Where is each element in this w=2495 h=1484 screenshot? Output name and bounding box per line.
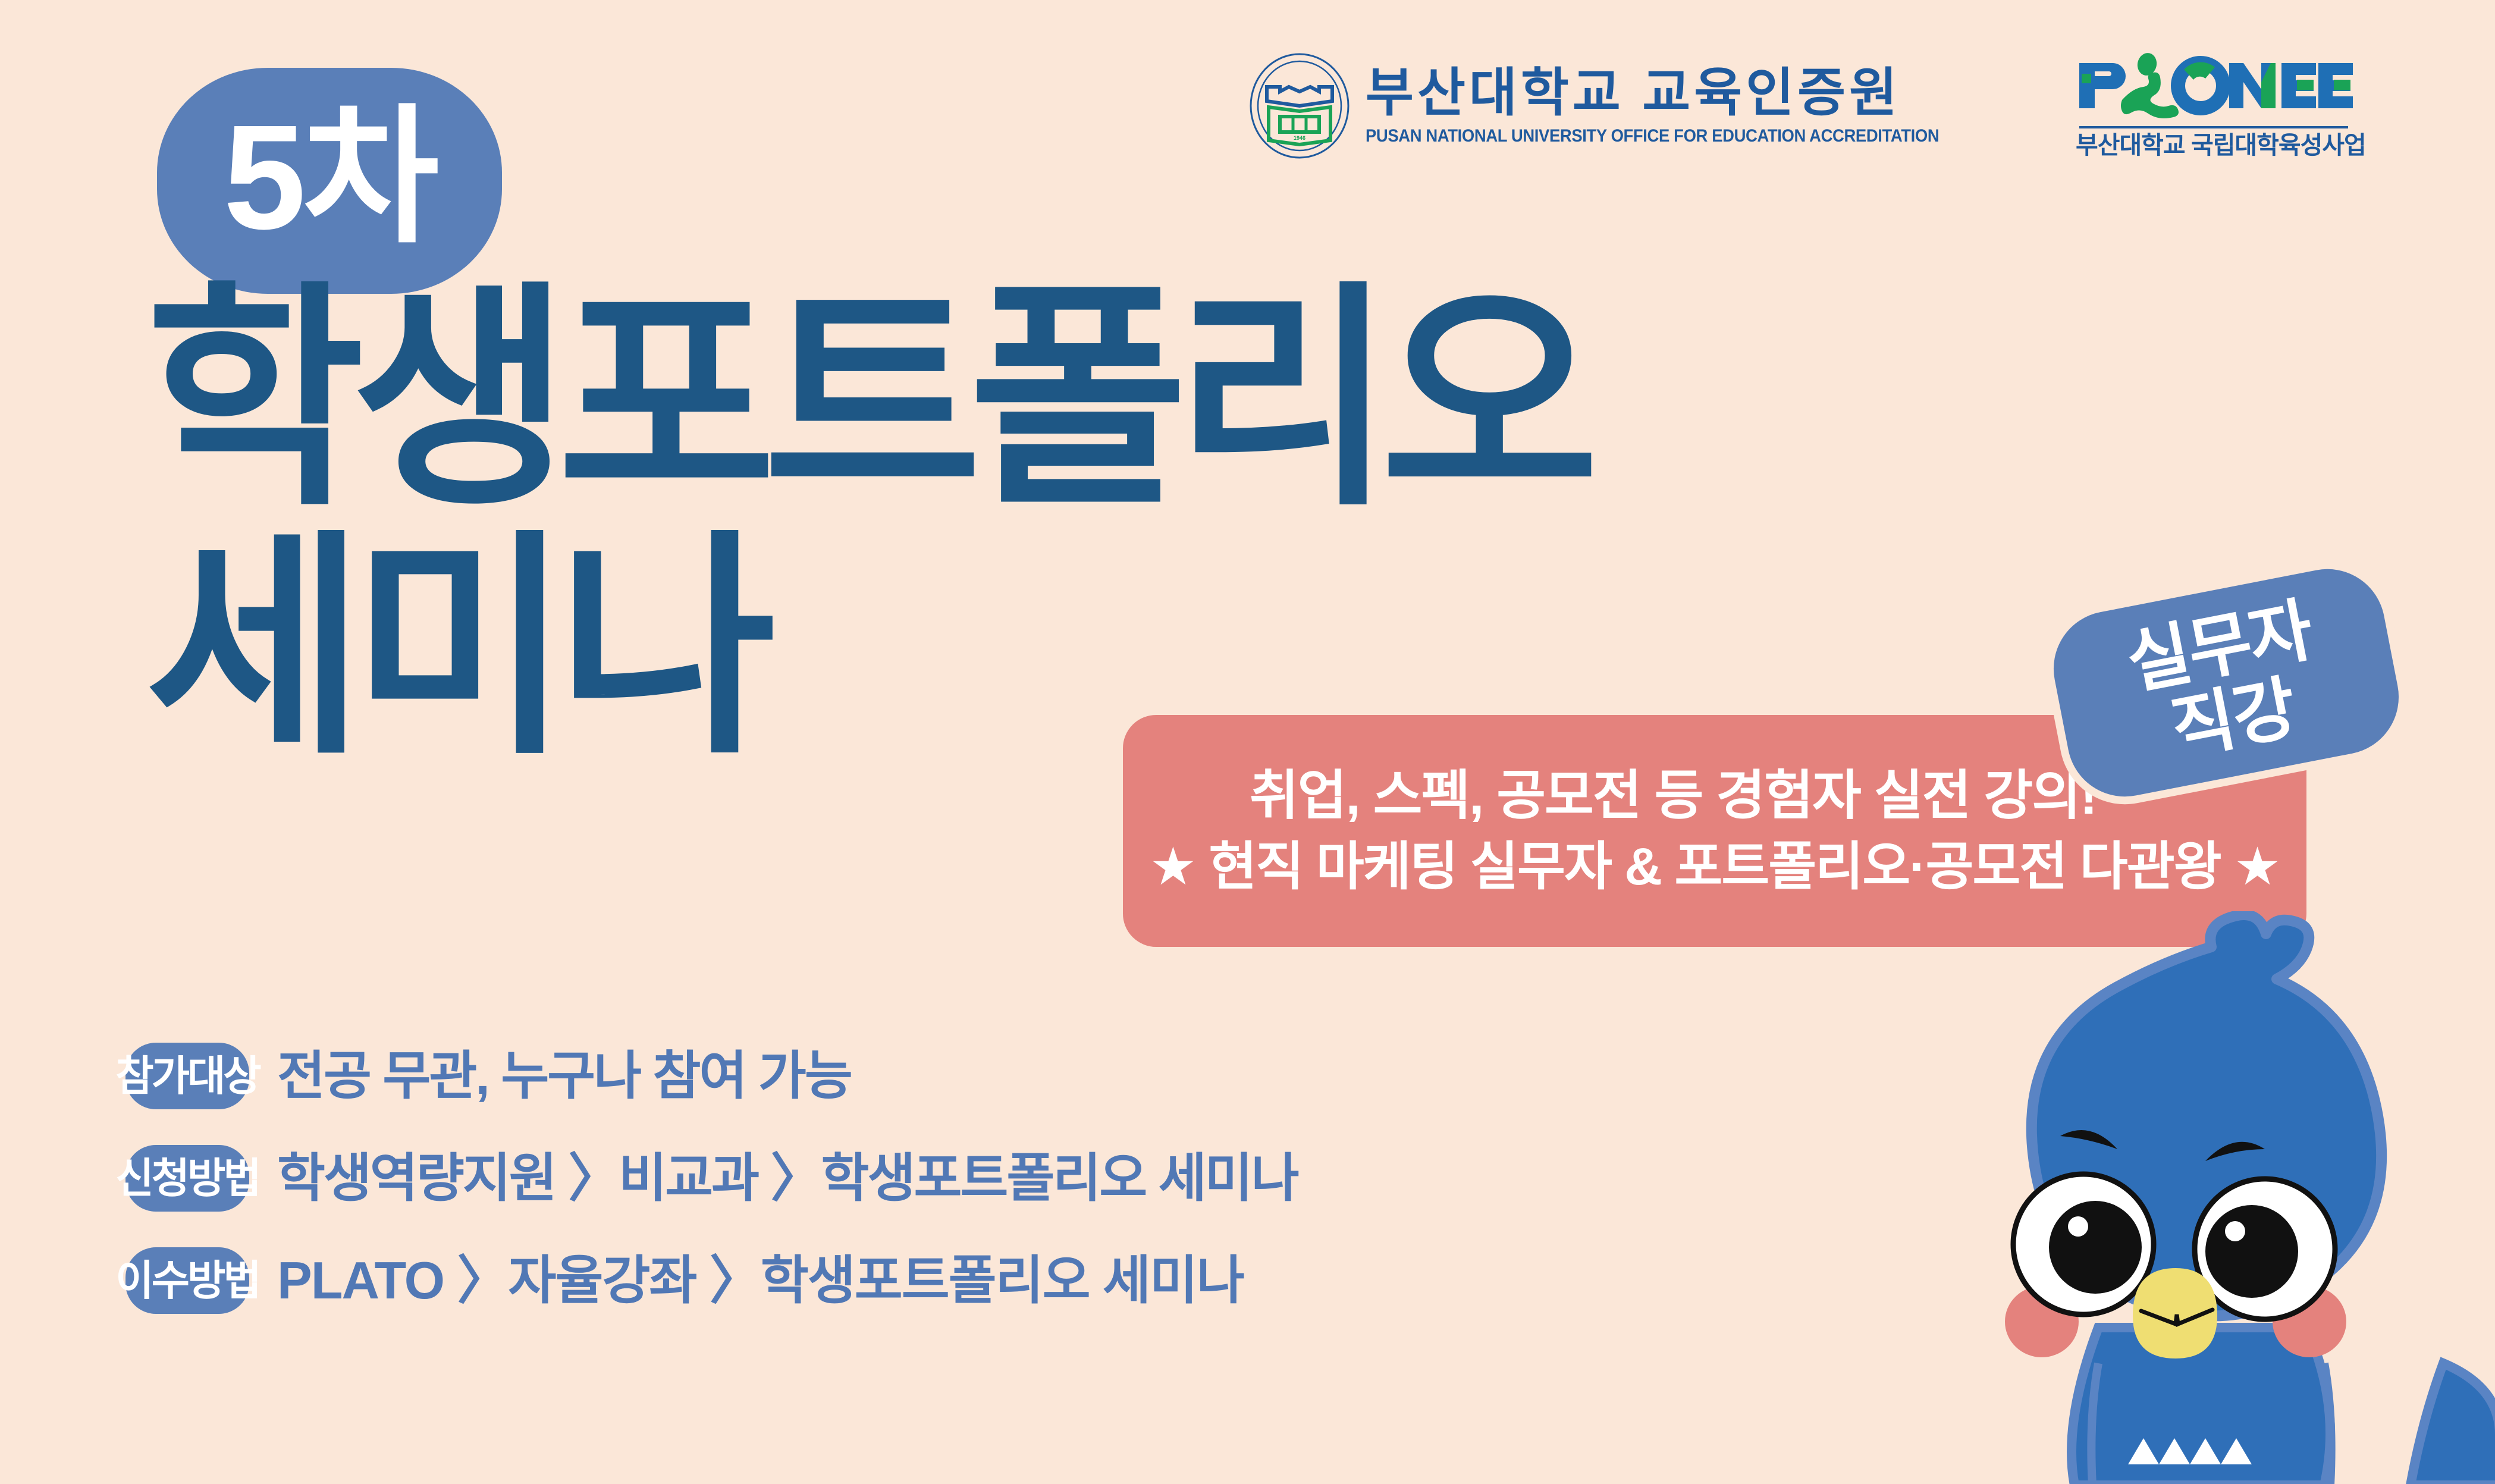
poster-root: 1946 부산대학교 교육인증원 PUSAN NATIONAL UNIVERSI… xyxy=(0,0,2495,1484)
session-badge-label: 5차 xyxy=(223,103,435,252)
pioneer-subtitle: 부산대학교 국립대학육성사업 xyxy=(2076,133,2353,158)
info-list: 참가대상 전공 무관, 누구나 참여 가능 신청방법 학생역량지원 〉비교과 〉… xyxy=(119,1036,2022,1343)
header-logos: 1946 부산대학교 교육인증원 PUSAN NATIONAL UNIVERSI… xyxy=(1249,52,1982,159)
info-label-pill-completion: 이수방법 xyxy=(119,1241,256,1320)
info-label-participants: 참가대상 xyxy=(115,1055,259,1097)
info-label-application: 신청방법 xyxy=(115,1157,259,1199)
pioneer-logo: 부산대학교 국립대학육성사업 xyxy=(2076,50,2355,158)
highlight-banner-line-2: ★ 현직 마케팅 실무자 & 포트폴리오·공모전 다관왕 ★ xyxy=(1150,840,2280,893)
university-name-en: PUSAN NATIONAL UNIVERSITY OFFICE FOR EDU… xyxy=(1366,127,1939,145)
info-row-application: 신청방법 학생역량지원 〉비교과 〉학생포트폴리오 세미나 xyxy=(119,1138,2022,1218)
info-value-completion: PLATO 〉자율강좌 〉학생포트폴리오 세미나 xyxy=(277,1254,1244,1307)
svg-text:1946: 1946 xyxy=(1294,135,1305,141)
title-line-1: 학생포트폴리오 xyxy=(146,285,2108,514)
pioneer-divider xyxy=(2079,126,2348,128)
info-label-completion: 이수방법 xyxy=(115,1260,259,1301)
university-name-block: 부산대학교 교육인증원 PUSAN NATIONAL UNIVERSITY OF… xyxy=(1366,67,1982,145)
blue-bird-mascot-icon xyxy=(1920,911,2495,1484)
pusan-national-university-emblem-icon: 1946 xyxy=(1249,52,1350,159)
info-value-application: 학생역량지원 〉비교과 〉학생포트폴리오 세미나 xyxy=(277,1152,1298,1204)
info-row-participants: 참가대상 전공 무관, 누구나 참여 가능 xyxy=(119,1036,2022,1116)
info-label-pill-application: 신청방법 xyxy=(119,1138,256,1218)
page-title: 학생포트폴리오 세미나 xyxy=(146,285,2108,763)
university-logo-group: 1946 부산대학교 교육인증원 PUSAN NATIONAL UNIVERSI… xyxy=(1249,52,1982,159)
session-badge: 5차 xyxy=(149,59,510,302)
pioneer-wordmark-icon xyxy=(2076,50,2355,121)
info-value-participants: 전공 무관, 누구나 참여 가능 xyxy=(277,1050,851,1102)
university-name-ko: 부산대학교 교육인증원 xyxy=(1366,67,1982,119)
info-label-pill-participants: 참가대상 xyxy=(119,1036,256,1116)
highlight-banner-line-1: 취업, 스펙, 공모전 등 경험자 실전 강의! xyxy=(1250,769,2097,823)
info-row-completion: 이수방법 PLATO 〉자율강좌 〉학생포트폴리오 세미나 xyxy=(119,1241,2022,1320)
